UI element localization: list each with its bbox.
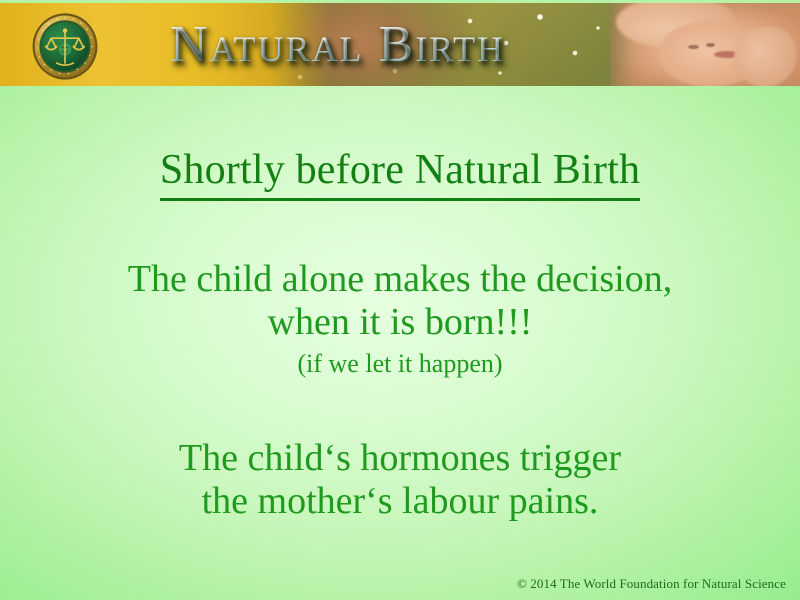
page-title: Shortly before Natural Birth — [0, 146, 800, 194]
statement-line-2: when it is born!!! — [0, 301, 800, 344]
foundation-logo[interactable] — [28, 12, 102, 81]
baby-arm-shape — [734, 27, 796, 86]
hormones-line-2: the mother‘s labour pains. — [0, 480, 800, 523]
statement-line-3: (if we let it happen) — [0, 348, 800, 381]
statement-line-1: The child alone makes the decision, — [0, 258, 800, 301]
baby-eye-right — [706, 43, 715, 47]
hormones-line-1: The child‘s hormones trigger — [0, 437, 800, 480]
newborn-baby-photo — [610, 3, 800, 86]
copyright-notice: © 2014 The World Foundation for Natural … — [517, 576, 786, 592]
slide: Natural Birth Shortly before Natural Bir… — [0, 0, 800, 600]
header-banner: Natural Birth — [0, 3, 800, 86]
statement-block-two: The child‘s hormones trigger the mother‘… — [0, 437, 800, 524]
statement-block-one: The child alone makes the decision, when… — [0, 258, 800, 380]
baby-eye-left — [688, 45, 699, 49]
page-title-text: Shortly before Natural Birth — [160, 147, 640, 201]
